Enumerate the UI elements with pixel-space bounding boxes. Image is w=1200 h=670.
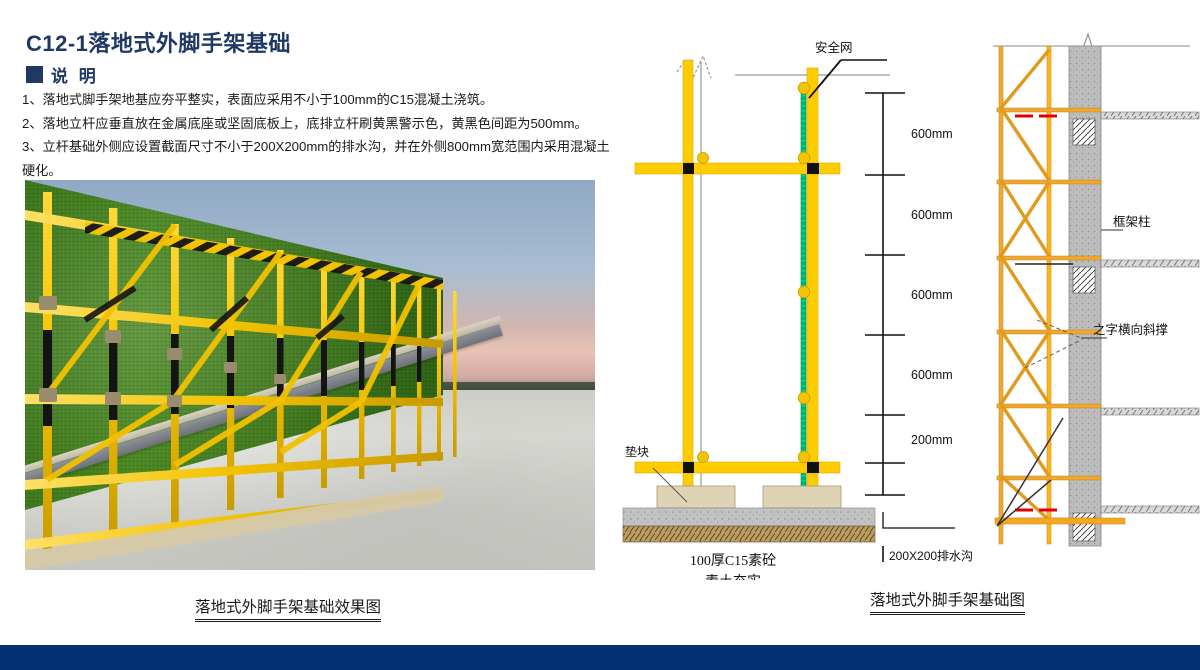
note-item: 2、落地立杆应垂直放在金属底座或坚固底板上，底排立杆刷黄黑警示色，黄黑色间距为5… <box>22 112 612 136</box>
label-pad-block: 垫块 <box>625 444 649 459</box>
slide-root: C12-1落地式外脚手架基础 说 明 1、落地式脚手架地基应夯平整实，表面应采用… <box>0 0 1200 670</box>
label-zigzag-brace: 之字横向斜撑 <box>1093 322 1169 337</box>
dimension-label: 600mm <box>911 208 953 222</box>
dimension-label: 600mm <box>911 288 953 302</box>
square-bullet-icon <box>26 66 43 83</box>
section-header: 说 明 <box>26 62 99 87</box>
dimension-label: 600mm <box>911 368 953 382</box>
note-item: 1、落地式脚手架地基应夯平整实，表面应采用不小于100mm的C15混凝土浇筑。 <box>22 88 612 112</box>
label-safety-net: 安全网 <box>815 40 853 55</box>
label-drain-ditch: 200X200排水沟 <box>889 549 973 563</box>
page-title: C12-1落地式外脚手架基础 <box>26 26 291 58</box>
photo-scaffold-frame <box>25 180 505 570</box>
label-frame-column: 框架柱 <box>1113 214 1151 229</box>
label-foundation-line2: 素土夯实 <box>705 574 761 580</box>
notes-list: 1、落地式脚手架地基应夯平整实，表面应采用不小于100mm的C15混凝土浇筑。 … <box>22 88 612 182</box>
label-foundation-line1: 100厚C15素砼 <box>690 553 776 569</box>
dimension-label: 600mm <box>911 127 953 141</box>
scaffold-elevation-diagram: 安全网 垫块 100厚C15素砼 素土夯实 600mm 600mm 600mm … <box>615 20 985 580</box>
drawing-caption: 落地式外脚手架基础图 <box>870 588 1025 615</box>
scaffold-section-diagram: 框架柱 之字横向斜撑 <box>985 20 1200 580</box>
scaffold-photo <box>25 180 595 570</box>
footer-bar <box>0 645 1200 670</box>
dimension-label: 200mm <box>911 433 953 447</box>
note-item: 3、立杆基础外侧应设置截面尺寸不小于200X200mm的排水沟，并在外侧800m… <box>22 135 612 182</box>
section-header-label: 说 明 <box>51 62 99 87</box>
photo-caption: 落地式外脚手架基础效果图 <box>195 595 381 622</box>
